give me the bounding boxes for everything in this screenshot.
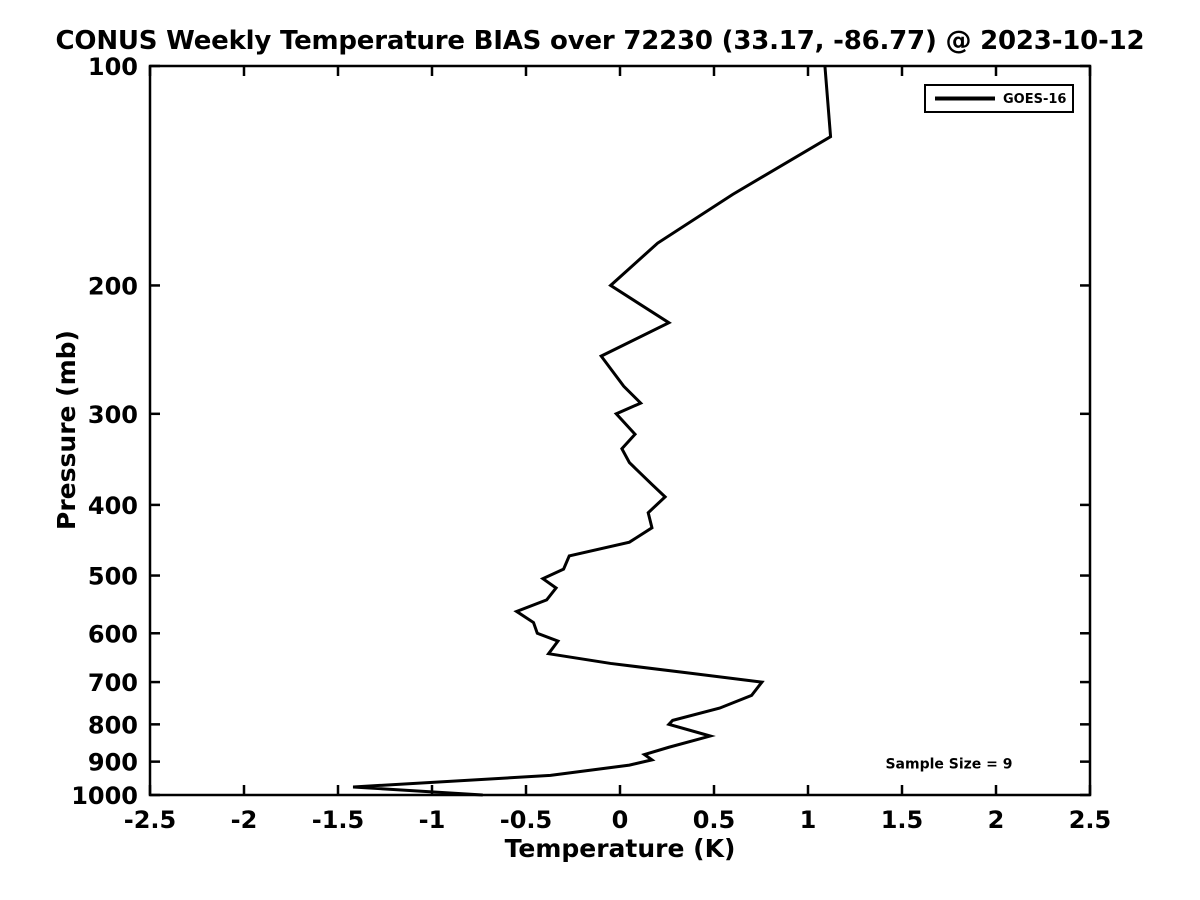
annotation-layer: Sample Size = 9	[885, 757, 1012, 773]
y-axis-tick-labels: 1002003004005006007008009001000	[71, 53, 138, 810]
y-tick-label: 200	[88, 272, 138, 300]
data-series-layer	[353, 66, 831, 795]
x-axis-ticks	[150, 66, 1090, 795]
x-tick-label: 0.5	[693, 806, 736, 834]
y-tick-label: 600	[88, 620, 138, 648]
x-tick-label: -0.5	[500, 806, 552, 834]
y-tick-label: 400	[88, 492, 138, 520]
x-tick-label: -2.5	[124, 806, 176, 834]
legend-label-goes-16: GOES-16	[1003, 92, 1066, 107]
y-tick-label: 1000	[71, 782, 138, 810]
data-line-goes-16	[353, 66, 831, 795]
x-tick-label: 1	[800, 806, 817, 834]
plot-frame	[150, 66, 1090, 795]
x-tick-label: -2	[231, 806, 258, 834]
x-axis-tick-labels: -2.5-2-1.5-1-0.500.511.522.5	[124, 806, 1112, 834]
x-tick-label: 1.5	[881, 806, 924, 834]
y-axis-ticks	[150, 66, 1090, 795]
y-tick-label: 900	[88, 749, 138, 777]
legend[interactable]: GOES-16	[925, 85, 1073, 112]
x-axis-title: Temperature (K)	[505, 834, 736, 863]
y-tick-label: 700	[88, 669, 138, 697]
x-tick-label: -1.5	[312, 806, 364, 834]
y-tick-label: 500	[88, 563, 138, 591]
x-tick-label: 2	[988, 806, 1005, 834]
y-tick-label: 300	[88, 401, 138, 429]
x-tick-label: 2.5	[1069, 806, 1112, 834]
temperature-bias-profile-plot: -2.5-2-1.5-1-0.500.511.522.5 10020030040…	[0, 0, 1200, 900]
y-tick-label: 800	[88, 711, 138, 739]
chart-figure: CONUS Weekly Temperature BIAS over 72230…	[0, 0, 1200, 900]
x-tick-label: -1	[419, 806, 446, 834]
y-tick-label: 100	[88, 53, 138, 81]
x-tick-label: 0	[612, 806, 629, 834]
y-axis-title: Pressure (mb)	[52, 330, 81, 530]
sample-size-annotation: Sample Size = 9	[885, 757, 1012, 773]
